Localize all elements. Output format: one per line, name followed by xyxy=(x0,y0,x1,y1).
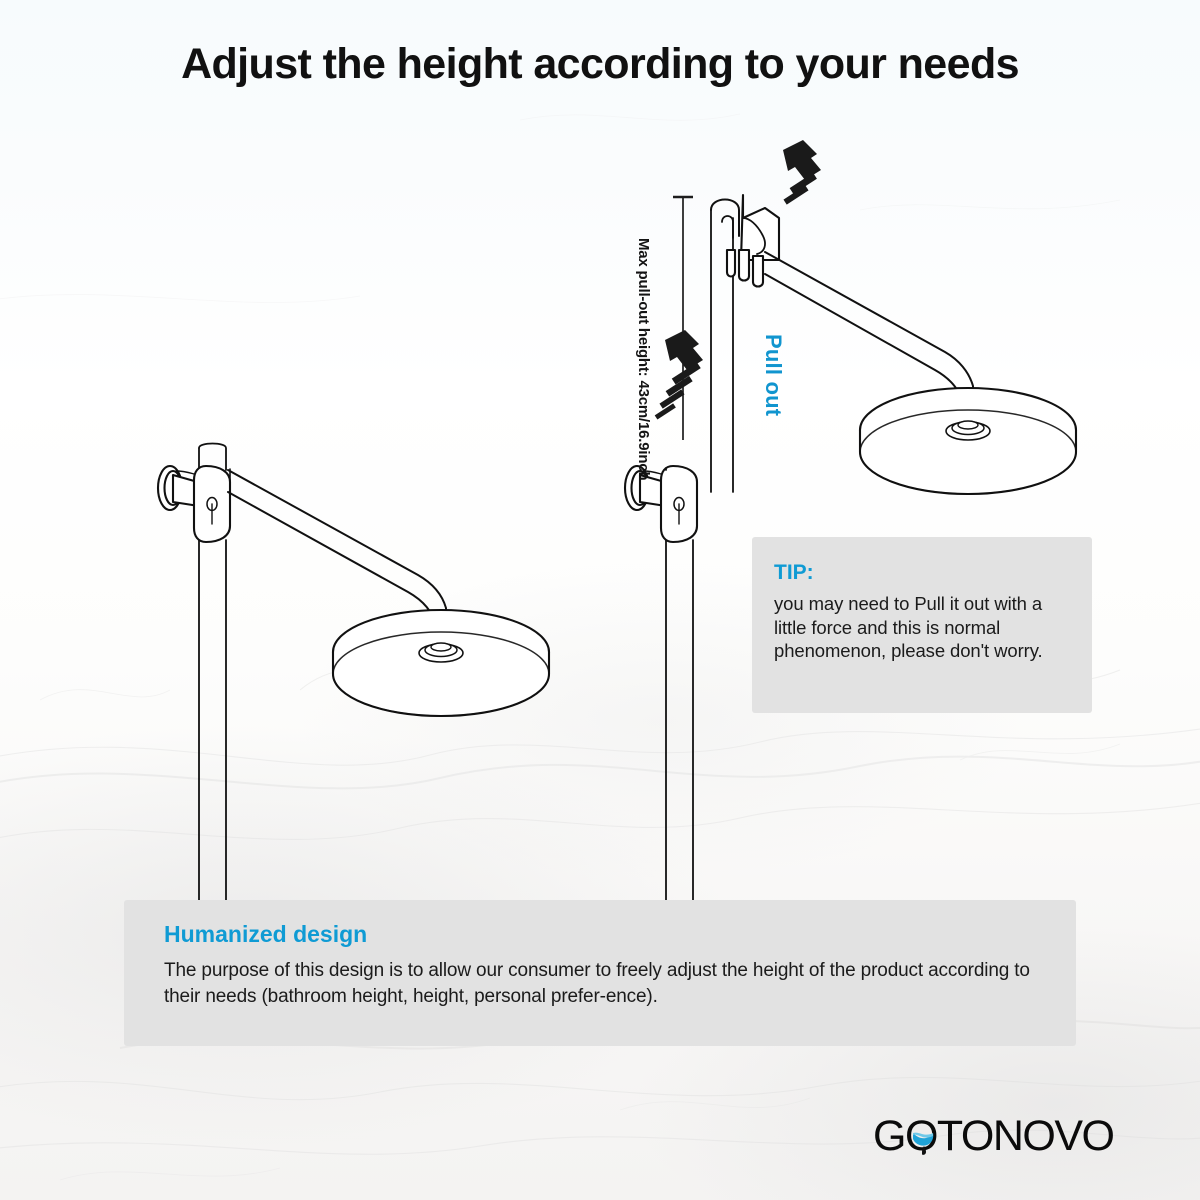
arrow-up-middle xyxy=(655,330,703,420)
collar-c xyxy=(753,256,763,287)
humanized-design-callout-box: Humanized design The purpose of this des… xyxy=(124,900,1076,1046)
extended-pipe-bend-outer xyxy=(711,200,739,237)
arrow-up-top xyxy=(783,140,821,205)
max-pullout-height-label: Max pull-out height: 43cm/16.9inch xyxy=(635,238,652,480)
tip-heading: TIP: xyxy=(774,561,1070,584)
page-title: Adjust the height according to your need… xyxy=(0,40,1200,89)
humanized-design-heading: Humanized design xyxy=(164,922,1040,947)
pull-out-label: Pull out xyxy=(760,334,786,416)
humanized-design-body: The purpose of this design is to allow o… xyxy=(164,958,1040,1009)
water-droplet-icon xyxy=(873,1112,1108,1166)
collar-a xyxy=(727,250,735,277)
head-nut-inner xyxy=(958,421,978,429)
head-nut-inner xyxy=(431,643,451,651)
tip-callout-box: TIP: you may need to Pull it out with a … xyxy=(752,537,1092,713)
collar-b xyxy=(739,250,749,281)
brand-logo: GOTONOVO xyxy=(873,1112,1108,1166)
diagram-shower-retracted xyxy=(150,440,590,910)
dimension-line xyxy=(673,197,693,440)
product-infographic: Adjust the height according to your need… xyxy=(0,0,1200,1200)
diagram-shower-extended xyxy=(615,140,1095,910)
tip-body: you may need to Pull it out with a littl… xyxy=(774,592,1070,663)
extended-pipe-bend-inner xyxy=(722,216,733,238)
